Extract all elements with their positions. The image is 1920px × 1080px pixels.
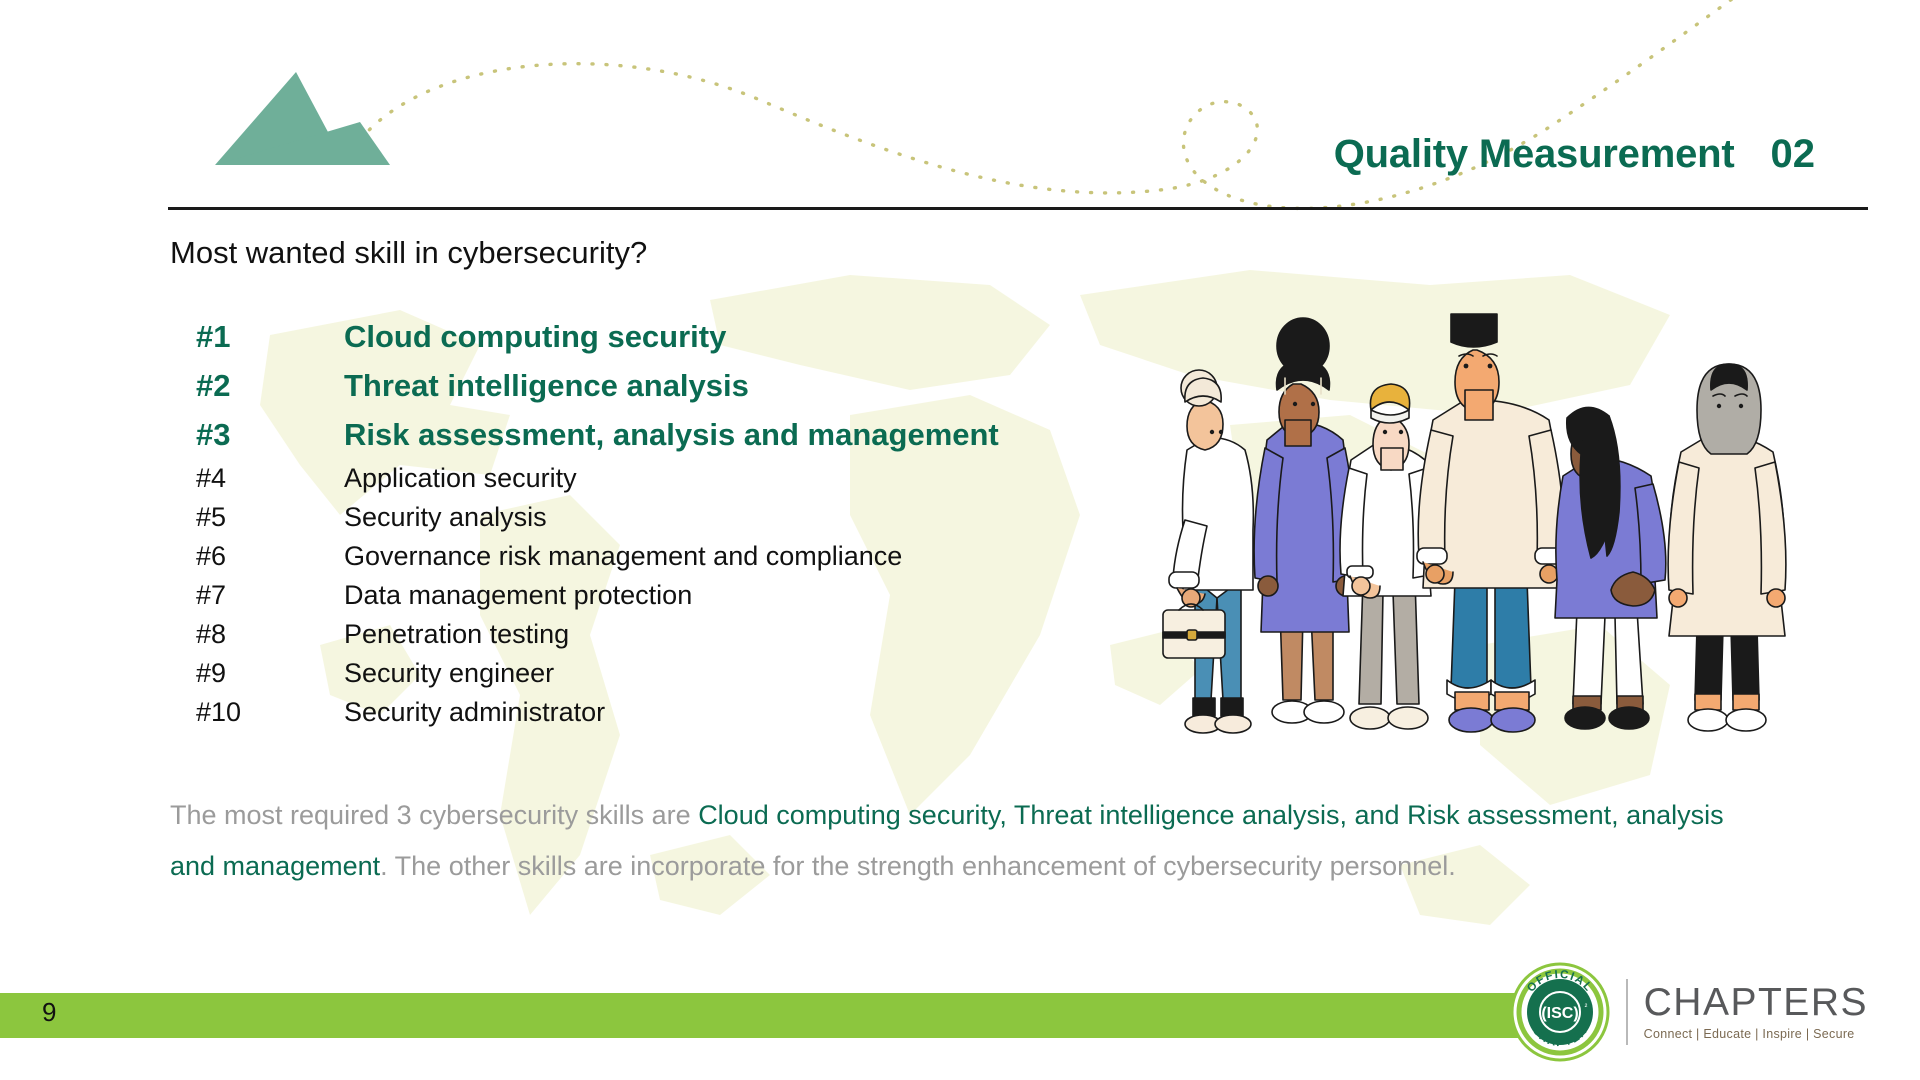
rank-label: Governance risk management and complianc… [344, 537, 902, 576]
svg-text:²: ² [1584, 1002, 1587, 1011]
rank-label: Threat intelligence analysis [344, 361, 749, 410]
list-item: #6 Governance risk management and compli… [196, 537, 999, 576]
list-item: #9 Security engineer [196, 654, 999, 693]
page-number: 9 [42, 997, 56, 1028]
section-number: 02 [1771, 132, 1816, 177]
rank-number: #8 [196, 615, 344, 654]
rank-number: #2 [196, 361, 344, 410]
rank-number: #3 [196, 410, 344, 459]
rank-label: Security analysis [344, 498, 547, 537]
group-of-people-illustration [1125, 280, 1825, 750]
list-item: #8 Penetration testing [196, 615, 999, 654]
rank-number: #5 [196, 498, 344, 537]
rank-label: Penetration testing [344, 615, 569, 654]
chapter-logo: OFFICIAL CHAPTER (ISC) ² CHAPTERS Connec… [1510, 962, 1868, 1062]
svg-text:(ISC): (ISC) [1541, 1005, 1578, 1022]
header-divider [168, 207, 1868, 210]
paper-plane-icon [210, 60, 400, 170]
logo-divider [1626, 979, 1628, 1045]
isc2-official-chapter-seal-icon: OFFICIAL CHAPTER (ISC) ² [1510, 962, 1610, 1062]
summary-part-1: The most required 3 cybersecurity skills… [170, 800, 698, 830]
question-label: Most wanted skill in cybersecurity? [170, 235, 647, 271]
page-title: Quality Measurement [1334, 132, 1735, 177]
logo-tagline: Connect | Educate | Inspire | Secure [1644, 1028, 1868, 1041]
list-item: #1 Cloud computing security [196, 312, 999, 361]
rank-label: Cloud computing security [344, 312, 726, 361]
rank-number: #7 [196, 576, 344, 615]
rank-number: #4 [196, 459, 344, 498]
list-item: #10 Security administrator [196, 693, 999, 732]
summary-paragraph: The most required 3 cybersecurity skills… [170, 790, 1770, 892]
header: Quality Measurement 02 [1334, 132, 1815, 177]
rank-label: Security engineer [344, 654, 554, 693]
list-item: #5 Security analysis [196, 498, 999, 537]
list-item: #2 Threat intelligence analysis [196, 361, 999, 410]
logo-wordmark: CHAPTERS [1644, 983, 1868, 1022]
list-item: #4 Application security [196, 459, 999, 498]
rank-number: #9 [196, 654, 344, 693]
rank-label: Application security [344, 459, 577, 498]
rank-label: Security administrator [344, 693, 605, 732]
footer-accent-bar [0, 993, 1540, 1038]
slide: Quality Measurement 02 Most wanted skill… [0, 0, 1920, 1080]
rank-label: Risk assessment, analysis and management [344, 410, 999, 459]
rank-number: #10 [196, 693, 344, 732]
list-item: #3 Risk assessment, analysis and managem… [196, 410, 999, 459]
rank-number: #6 [196, 537, 344, 576]
skills-ranking-list: #1 Cloud computing security #2 Threat in… [196, 312, 999, 732]
summary-part-2: . The other skills are incorporate for t… [380, 851, 1456, 881]
list-item: #7 Data management protection [196, 576, 999, 615]
rank-number: #1 [196, 312, 344, 361]
rank-label: Data management protection [344, 576, 692, 615]
